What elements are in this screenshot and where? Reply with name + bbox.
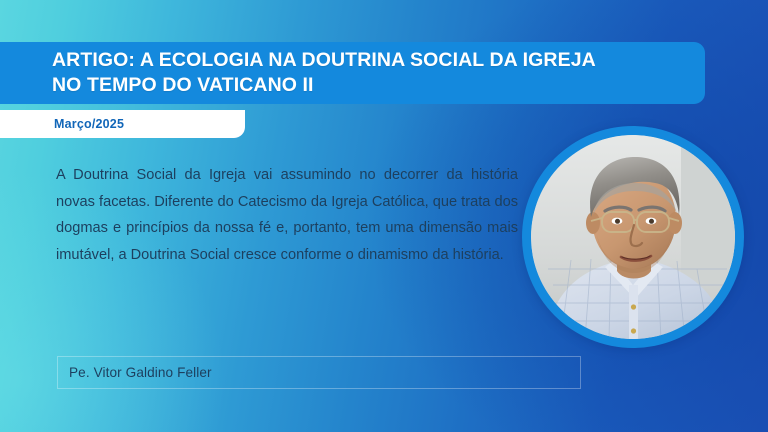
date-badge: Março/2025: [0, 110, 245, 138]
page-title: ARTIGO: A ECOLOGIA NA DOUTRINA SOCIAL DA…: [0, 48, 610, 98]
portrait-ring: [522, 126, 744, 348]
author-field: Pe. Vitor Galdino Feller: [57, 356, 581, 389]
article-slide: ARTIGO: A ECOLOGIA NA DOUTRINA SOCIAL DA…: [0, 0, 768, 432]
portrait-photo-illustration: [531, 135, 735, 339]
title-banner: ARTIGO: A ECOLOGIA NA DOUTRINA SOCIAL DA…: [0, 42, 705, 104]
avatar: [531, 135, 735, 339]
author-name: Pe. Vitor Galdino Feller: [58, 365, 212, 380]
date-label: Março/2025: [0, 117, 124, 131]
article-excerpt: A Doutrina Social da Igreja vai assumind…: [56, 162, 518, 268]
